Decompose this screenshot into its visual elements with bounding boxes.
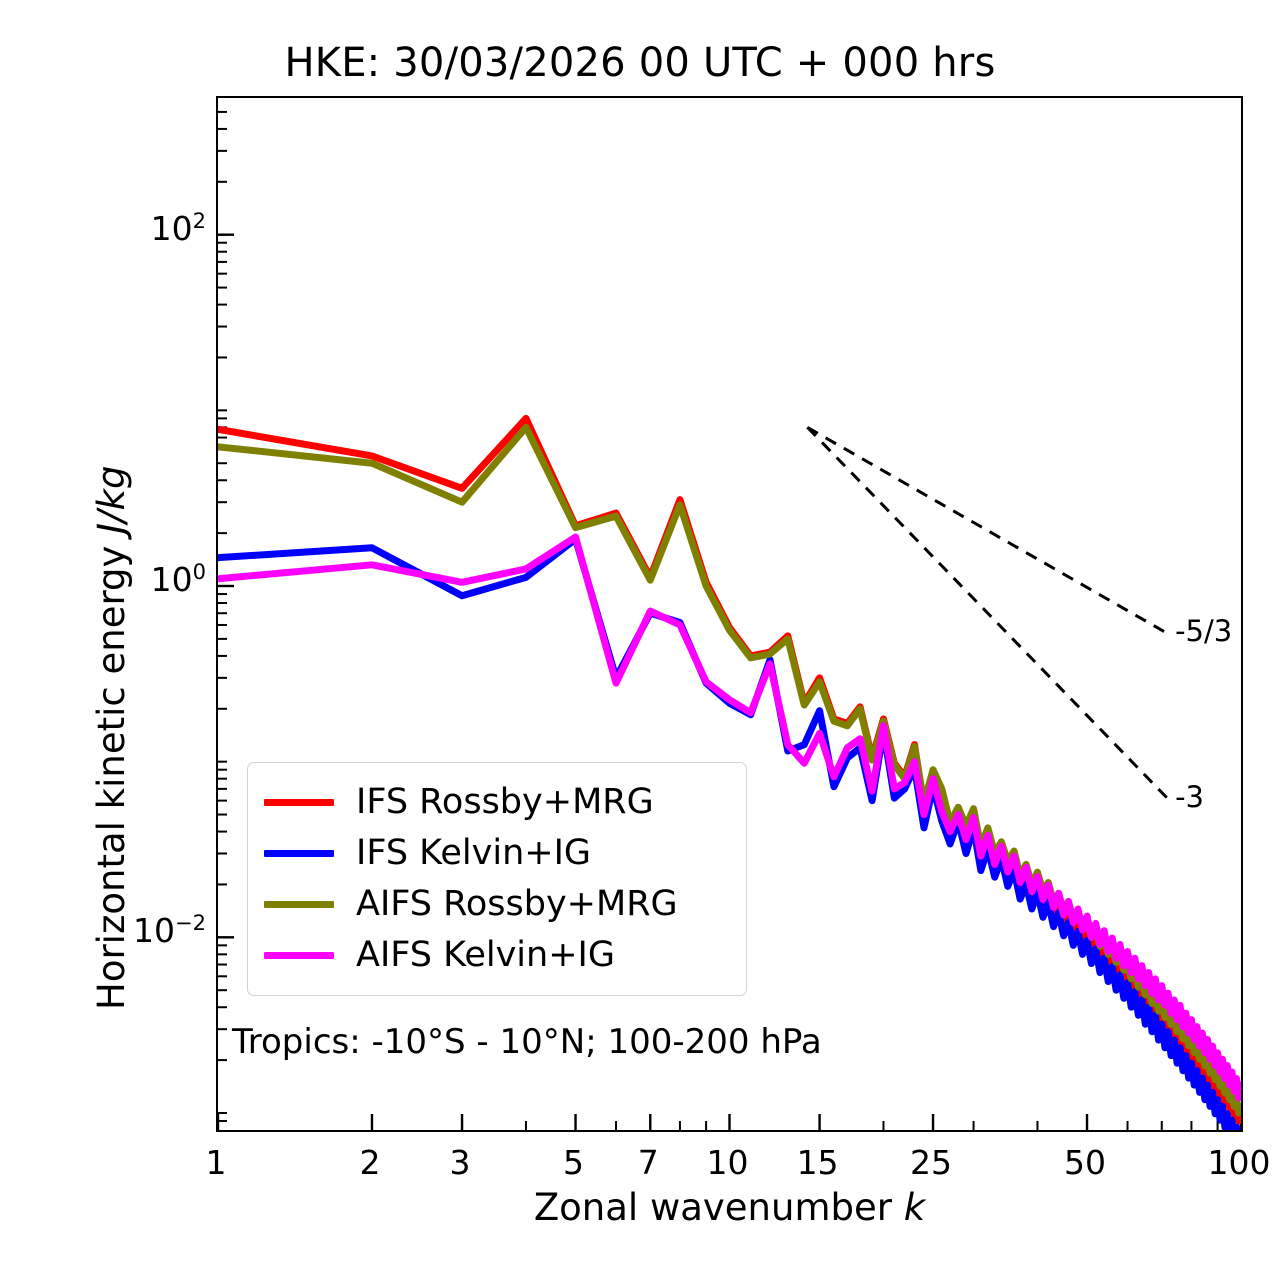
x-tick-label: 1 [156,1143,276,1182]
y-tick-label: 10−2 [133,911,206,950]
y-axis-label-text: Horizontal kinetic energy [90,534,133,1010]
legend-label: AIFS Rossby+MRG [356,887,678,922]
legend-label: IFS Kelvin+IG [356,836,591,871]
y-axis-label-unit: J/kg [90,466,133,534]
legend-label: IFS Rossby+MRG [356,785,654,820]
x-axis-label-text: Zonal wavenumber [534,1186,904,1229]
legend-item[interactable]: AIFS Rossby+MRG [264,879,730,930]
legend-color-swatch [264,799,334,806]
y-tick-label: 100 [151,560,206,599]
y-axis-label-container: Horizontal kinetic energy J/kg [0,0,96,1288]
y-axis-label: Horizontal kinetic energy J/kg [90,466,133,1010]
region-annotation: Tropics: -10°S - 10°N; 100-200 hPa [232,1022,822,1062]
legend-color-swatch [264,952,334,959]
legend-label: AIFS Kelvin+IG [356,938,615,973]
slope-label-minus-three: -3 [1175,780,1204,814]
x-tick-label: 50 [1025,1143,1145,1182]
y-tick-label: 102 [151,209,206,248]
legend-color-swatch [264,901,334,908]
slope-label-five-thirds: -5/3 [1175,614,1232,648]
x-tick-label: 15 [758,1143,878,1182]
x-axis-label-symbol: k [904,1186,925,1229]
legend-color-swatch [264,850,334,857]
x-axis-label: Zonal wavenumber k [216,1186,1243,1229]
chart-legend: IFS Rossby+MRGIFS Kelvin+IGAIFS Rossby+M… [247,762,747,996]
legend-item[interactable]: IFS Kelvin+IG [264,828,730,879]
x-tick-label: 25 [871,1143,991,1182]
chart-figure: HKE: 30/03/2026 00 UTC + 000 hrs Horizon… [0,0,1280,1288]
legend-item[interactable]: AIFS Kelvin+IG [264,930,730,981]
x-tick-label: 3 [400,1143,520,1182]
legend-item[interactable]: IFS Rossby+MRG [264,777,730,828]
chart-title: HKE: 30/03/2026 00 UTC + 000 hrs [0,40,1280,86]
x-tick-label: 100 [1179,1143,1280,1182]
